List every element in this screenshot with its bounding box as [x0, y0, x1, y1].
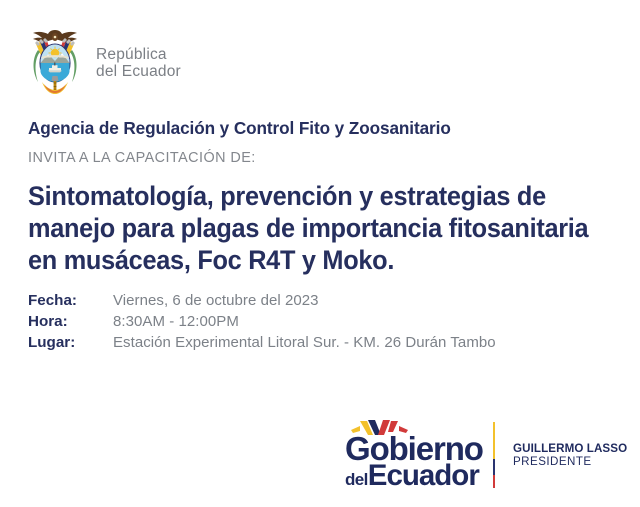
- president-block: GUILLERMO LASSO PRESIDENTE: [513, 442, 627, 468]
- agency-name: Agencia de Regulación y Control Fito y Z…: [28, 118, 451, 139]
- detail-row-fecha: Fecha: Viernes, 6 de octubre del 2023: [28, 292, 588, 313]
- detail-row-hora: Hora: 8:30AM - 12:00PM: [28, 313, 588, 334]
- ecuador-word: Ecuador: [368, 459, 479, 492]
- republic-label: República del Ecuador: [96, 46, 181, 81]
- detail-label-lugar: Lugar:: [28, 334, 113, 351]
- ecuador-flag-divider: [493, 422, 495, 488]
- gobierno-del-ecuador-logo: Gobierno delEcuador: [345, 419, 487, 491]
- detail-value-lugar: Estación Experimental Litoral Sur. - KM.…: [113, 334, 496, 351]
- president-name: GUILLERMO LASSO: [513, 442, 627, 455]
- footer-branding: Gobierno delEcuador GUILLERMO LASSO PRES…: [345, 419, 627, 491]
- event-title-line-1: Sintomatología, prevención y estrategias…: [28, 180, 597, 212]
- ecuador-coat-of-arms-icon: [24, 26, 86, 100]
- event-details: Fecha: Viernes, 6 de octubre del 2023 Ho…: [28, 292, 588, 355]
- detail-label-hora: Hora:: [28, 313, 113, 330]
- event-title: Sintomatología, prevención y estrategias…: [28, 180, 597, 276]
- del-word: del: [345, 470, 368, 489]
- invitation-intro: INVITA A LA CAPACITACIÓN DE:: [28, 150, 256, 166]
- detail-value-hora: 8:30AM - 12:00PM: [113, 313, 239, 330]
- del-ecuador-line: delEcuador: [345, 461, 479, 496]
- event-title-line-3: en musáceas, Foc R4T y Moko.: [28, 244, 597, 276]
- invitation-poster: República del Ecuador Agencia de Regulac…: [0, 0, 640, 507]
- detail-row-lugar: Lugar: Estación Experimental Litoral Sur…: [28, 334, 588, 355]
- president-role: PRESIDENTE: [513, 455, 627, 468]
- event-title-line-2: manejo para plagas de importancia fitosa…: [28, 212, 597, 244]
- detail-value-fecha: Viernes, 6 de octubre del 2023: [113, 292, 319, 309]
- detail-label-fecha: Fecha:: [28, 292, 113, 309]
- header-branding: República del Ecuador: [24, 26, 181, 100]
